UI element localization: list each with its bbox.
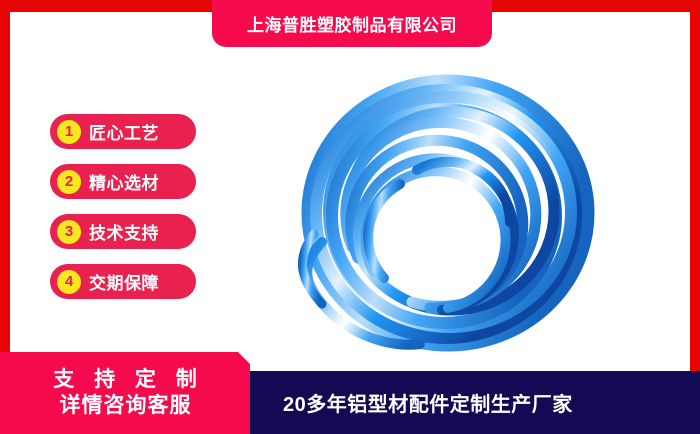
feature-badge-list: 1 匠心工艺 2 精心选材 3 技术支持 4 交期保障 <box>50 114 196 314</box>
feature-badge-4[interactable]: 4 交期保障 <box>50 264 196 299</box>
feature-badge-3[interactable]: 3 技术支持 <box>50 214 196 249</box>
feature-badge-2[interactable]: 2 精心选材 <box>50 164 196 199</box>
cta-line-1: 支 持 定 制 <box>46 367 204 393</box>
badge-label-3: 技术支持 <box>89 219 159 244</box>
badge-number-2: 2 <box>57 170 81 194</box>
coiled-hose-illustration <box>292 72 604 357</box>
badge-label-2: 精心选材 <box>89 169 159 194</box>
company-name: 上海普胜塑胶制品有限公司 <box>247 11 457 36</box>
tagline-bar: 20多年铝型材配件定制生产厂家 <box>250 371 700 434</box>
badge-label-4: 交期保障 <box>89 269 159 294</box>
feature-badge-1[interactable]: 1 匠心工艺 <box>50 114 196 149</box>
frame-border-left <box>0 0 10 360</box>
cta-line-2: 详情咨询客服 <box>59 393 192 419</box>
badge-number-3: 3 <box>57 220 81 244</box>
product-poster: 上海普胜塑胶制品有限公司 <box>0 0 700 434</box>
cta-block[interactable]: 支 持 定 制 详情咨询客服 <box>0 352 250 434</box>
badge-number-4: 4 <box>57 270 81 294</box>
badge-number-1: 1 <box>57 120 81 144</box>
frame-border-right <box>690 0 700 372</box>
product-image-coiled-blue-hose <box>292 72 604 357</box>
tagline-text: 20多年铝型材配件定制生产厂家 <box>283 388 573 417</box>
badge-label-1: 匠心工艺 <box>89 119 159 144</box>
company-banner: 上海普胜塑胶制品有限公司 <box>212 0 492 47</box>
